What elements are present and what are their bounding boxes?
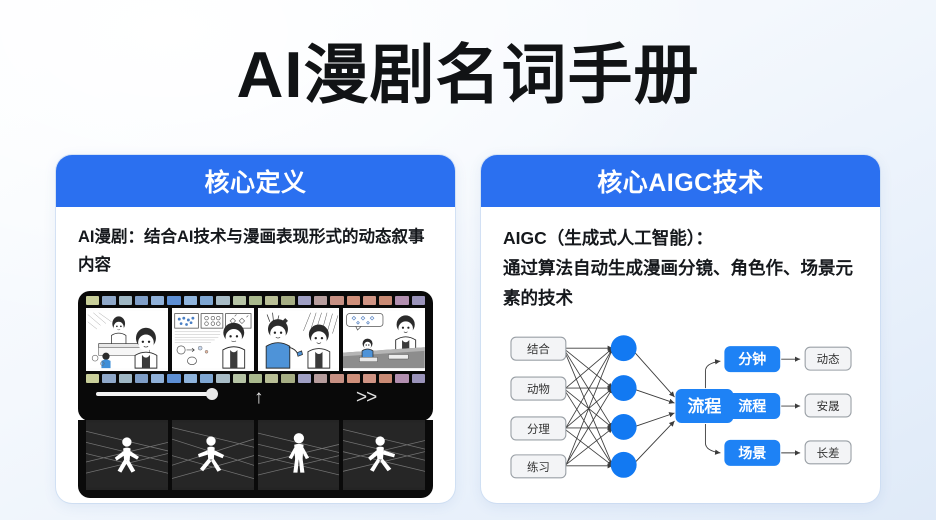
timeline-slider[interactable] bbox=[96, 392, 214, 396]
film-sprockets-bottom bbox=[86, 374, 425, 383]
card-header-title: 核心AIGC技术 bbox=[597, 163, 764, 199]
card-header-core-aigc-tech: 核心AIGC技术 bbox=[481, 155, 880, 207]
manga-panel-speech-bubbles bbox=[343, 308, 425, 371]
svg-text:长差: 长差 bbox=[817, 446, 840, 460]
walking-figure-4 bbox=[343, 420, 425, 490]
walk-cycle-strip bbox=[78, 420, 433, 498]
card-definition-text: AI漫剧：结合AI技术与漫画表现形式的动态叙事内容 bbox=[78, 223, 433, 279]
card-core-aigc-tech: 核心AIGC技术 AIGC（生成式人工智能）： 通过算法自动生成漫画分镜、角色作… bbox=[481, 155, 880, 503]
svg-text:流程: 流程 bbox=[687, 396, 721, 416]
svg-text:结合: 结合 bbox=[527, 342, 550, 356]
manga-panel-shop-display bbox=[172, 308, 254, 371]
diagram-output-nodes: 分钟 流程 场景 bbox=[724, 346, 780, 466]
svg-text:流程: 流程 bbox=[738, 398, 766, 414]
manga-panel-two-characters bbox=[258, 308, 340, 371]
walking-figure-3 bbox=[258, 420, 340, 490]
card-header-core-definition: 核心定义 bbox=[56, 155, 455, 207]
up-arrow-icon[interactable]: ↑ bbox=[254, 385, 264, 411]
svg-text:场景: 场景 bbox=[738, 445, 766, 461]
film-strip: ↑ >> bbox=[78, 291, 433, 421]
svg-text:安晟: 安晟 bbox=[817, 399, 840, 413]
film-sprockets-top bbox=[86, 296, 425, 305]
timeline-slider-knob[interactable] bbox=[206, 388, 218, 400]
page-title: AI漫剧名词手册 bbox=[0, 36, 936, 114]
diagram-hidden-nodes bbox=[611, 335, 637, 478]
fast-forward-icon[interactable]: >> bbox=[356, 385, 376, 411]
svg-text:动态: 动态 bbox=[817, 353, 840, 366]
film-strip-media: ↑ >> bbox=[78, 291, 433, 503]
film-controls: ↑ >> bbox=[86, 383, 425, 417]
manga-panel-counter-scene bbox=[86, 308, 168, 371]
card-body-core-aigc-tech: AIGC（生成式人工智能）： 通过算法自动生成漫画分镜、角色作、场景元素的技术 bbox=[481, 207, 880, 503]
cards-container: 核心定义 AI漫剧：结合AI技术与漫画表现形式的动态叙事内容 bbox=[56, 155, 880, 503]
card-aigc-text: AIGC（生成式人工智能）： 通过算法自动生成漫画分镜、角色作、场景元素的技术 bbox=[503, 223, 858, 313]
diagram-input-nodes: 结合 动物 分理 练习 bbox=[511, 337, 566, 478]
card-header-title: 核心定义 bbox=[204, 163, 306, 199]
walking-figure-2 bbox=[172, 420, 254, 490]
card-core-definition: 核心定义 AI漫剧：结合AI技术与漫画表现形式的动态叙事内容 bbox=[56, 155, 455, 503]
svg-text:练习: 练习 bbox=[527, 460, 550, 474]
film-panels bbox=[86, 308, 425, 371]
svg-text:分钟: 分钟 bbox=[738, 351, 766, 367]
card-body-core-definition: AI漫剧：结合AI技术与漫画表现形式的动态叙事内容 bbox=[56, 207, 455, 503]
svg-text:动物: 动物 bbox=[527, 382, 550, 396]
neural-network-diagram: 结合 动物 分理 练习 bbox=[503, 319, 858, 503]
walking-figure-1 bbox=[86, 420, 168, 490]
svg-text:分理: 分理 bbox=[527, 423, 550, 436]
diagram-tail-nodes: 动态 安晟 长差 bbox=[805, 347, 851, 464]
